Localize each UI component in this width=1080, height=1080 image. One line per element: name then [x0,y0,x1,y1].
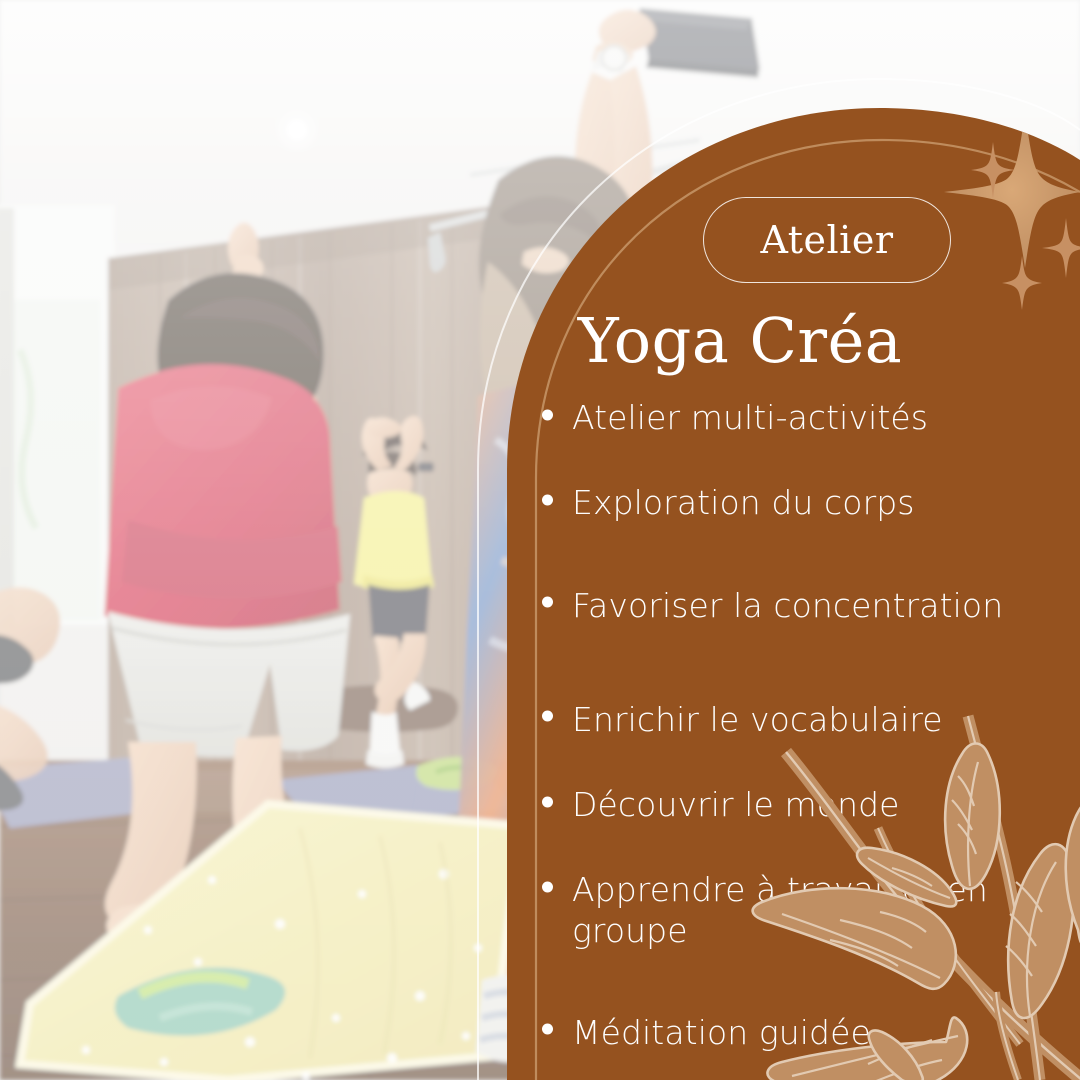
page-title: Yoga Créa [510,310,970,372]
benefits-list: Atelier multi-activités Exploration du c… [536,398,1056,1053]
list-item: Favoriser la concentration [536,586,1056,626]
atelier-badge-label: Atelier [761,221,894,259]
list-item-label: Méditation guidée [572,1013,871,1052]
list-item-label: Atelier multi-activités [572,398,928,437]
list-item: Méditation guidée [536,1013,1056,1053]
list-item-label: Favoriser la concentration [572,586,1003,625]
list-item: Apprendre à travailler en groupe [536,870,1056,951]
list-item-label: Découvrir le monde [572,785,900,824]
bullet-dot-icon [542,409,553,420]
list-item-label: Enrichir le vocabulaire [572,700,943,739]
list-item: Atelier multi-activités [536,398,1056,438]
bullet-dot-icon [542,597,553,608]
list-item: Découvrir le monde [536,785,1056,825]
bullet-dot-icon [542,711,553,722]
list-item-label: Exploration du corps [572,483,915,522]
bullet-dot-icon [542,494,553,505]
bullet-dot-icon [542,881,553,892]
bullet-dot-icon [542,1024,553,1035]
list-item-label: Apprendre à travailler en groupe [572,870,988,949]
list-item: Enrichir le vocabulaire [536,700,1056,740]
panel-content: Atelier Yoga Créa Atelier multi-activité… [0,0,1080,1080]
poster-root: Atelier Yoga Créa Atelier multi-activité… [0,0,1080,1080]
bullet-dot-icon [542,796,553,807]
atelier-badge[interactable]: Atelier [703,197,951,283]
list-item: Exploration du corps [536,483,1056,523]
